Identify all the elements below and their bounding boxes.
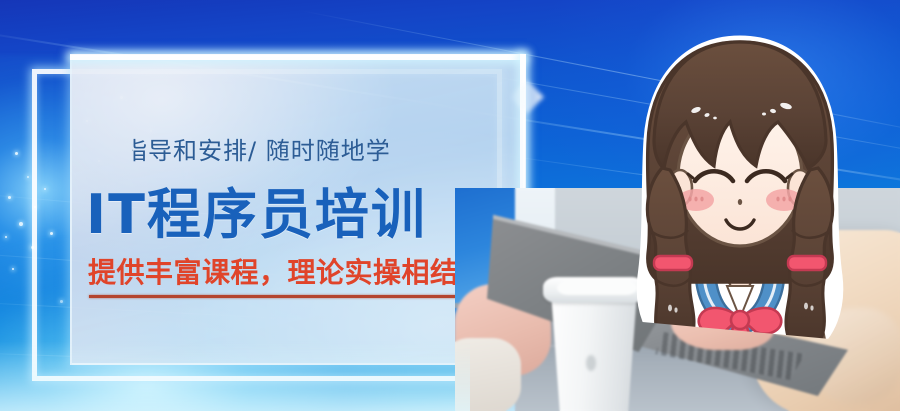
person-left-sleeve [455, 338, 521, 411]
tagline-text: 指导和安排/ 随时随地学 [132, 131, 391, 166]
divider-rule [89, 295, 493, 298]
promo-banner: 指导和安排/ 随时随地学 IT程序员培训 提供丰富课程，理论实操相结合 [0, 0, 900, 411]
tagline: 指导和安排/ 随时随地学 [132, 131, 391, 166]
cartoon-girl [590, 18, 890, 358]
subtitle: 提供丰富课程，理论实操相结合 [88, 251, 487, 291]
coffee-cup-shadow [586, 355, 596, 371]
page-title: IT程序员培训 [86, 170, 427, 249]
